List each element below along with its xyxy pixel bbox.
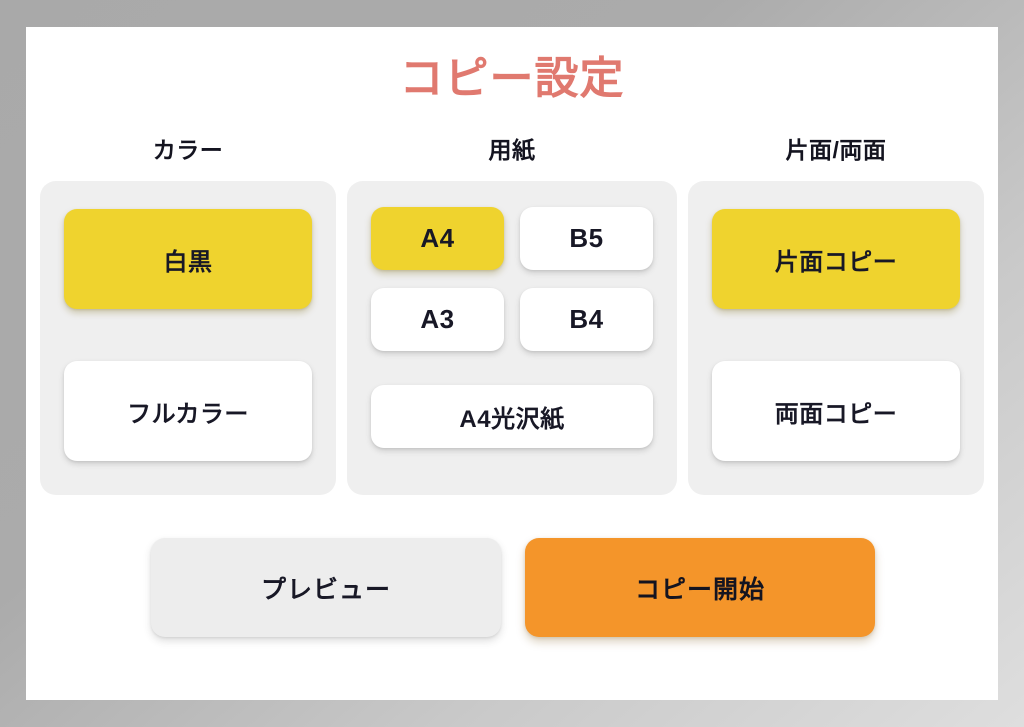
copy-settings-card: コピー設定 カラー 白黒 フルカラー 用紙 A4 B5 [26,27,998,700]
option-panel-color: 白黒 フルカラー [40,181,336,495]
option-paper-b4[interactable]: B4 [520,288,653,351]
option-paper-a4[interactable]: A4 [371,207,504,270]
option-paper-a3[interactable]: A3 [371,288,504,351]
option-color-mono[interactable]: 白黒 [64,209,312,309]
section-color: カラー 白黒 フルカラー [40,131,336,495]
option-paper-a4-glossy[interactable]: A4光沢紙 [371,385,653,448]
option-duplex-double[interactable]: 両面コピー [712,361,960,461]
settings-columns: カラー 白黒 フルカラー 用紙 A4 B5 A3 B4 [40,131,984,495]
section-label-paper: 用紙 [489,131,536,165]
preview-button[interactable]: プレビュー [151,538,501,637]
section-paper: 用紙 A4 B5 A3 B4 A4光沢紙 [347,131,677,495]
option-color-full[interactable]: フルカラー [64,361,312,461]
option-grid-paper: A4 B5 A3 B4 A4光沢紙 [371,207,653,448]
option-stack-duplex: 片面コピー 両面コピー [712,209,960,465]
section-label-color: カラー [153,131,224,165]
option-duplex-single[interactable]: 片面コピー [712,209,960,309]
option-panel-duplex: 片面コピー 両面コピー [688,181,984,495]
option-stack-color: 白黒 フルカラー [64,209,312,465]
start-copy-button[interactable]: コピー開始 [525,538,875,637]
section-duplex: 片面/両面 片面コピー 両面コピー [688,131,984,495]
section-label-duplex: 片面/両面 [786,131,887,165]
option-panel-paper: A4 B5 A3 B4 A4光沢紙 [347,181,677,495]
screen: コピー設定 カラー 白黒 フルカラー 用紙 A4 B5 [0,0,1024,727]
page-title: コピー設定 [26,55,998,103]
option-paper-b5[interactable]: B5 [520,207,653,270]
action-bar: プレビュー コピー開始 [151,538,881,637]
